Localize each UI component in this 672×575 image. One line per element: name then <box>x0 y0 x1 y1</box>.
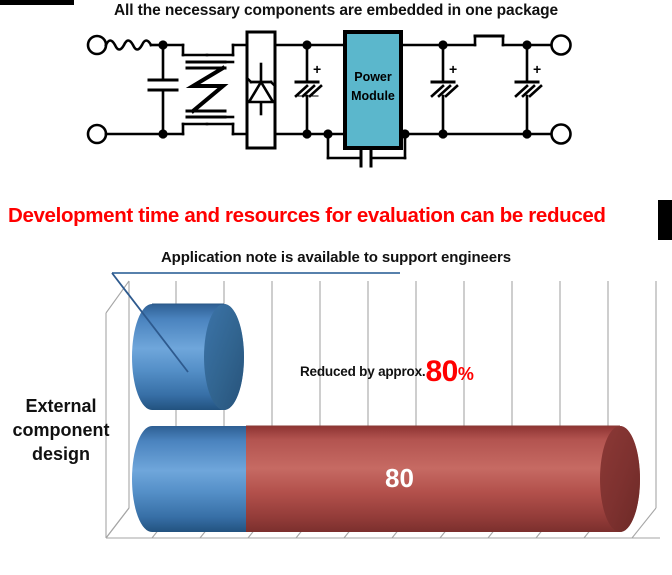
reduction-annotation-prefix: Reduced by approx. <box>300 364 425 379</box>
category-axis-label: External component design <box>2 395 120 466</box>
reduction-annotation: Reduced by approx.80% <box>300 355 474 389</box>
reduction-annotation-unit: % <box>458 364 474 384</box>
sub-caption: Application note is available to support… <box>0 249 672 266</box>
polarity-plus-3: + <box>533 61 541 77</box>
polarity-plus-2: + <box>449 61 457 77</box>
top-caption: All the necessary components are embedde… <box>0 2 672 20</box>
headline-text: Development time and resources for evalu… <box>8 204 656 228</box>
output-terminal-bottom-icon <box>552 125 571 144</box>
input-terminal-top-icon <box>88 36 106 54</box>
electrolytic-capacitor-2-icon <box>432 86 457 96</box>
reduction-annotation-value: 80 <box>425 355 457 388</box>
output-terminal-top-icon <box>552 36 571 55</box>
bar-data-label: 80 <box>385 463 414 494</box>
electrolytic-capacitor-3-icon <box>516 86 541 96</box>
choke-winding-icon <box>193 68 223 111</box>
power-module-label-line2: Module <box>351 89 395 103</box>
polarity-plus-1: + <box>313 61 321 77</box>
circuit-diagram: + + + Power Module <box>75 24 595 179</box>
inductor-icon <box>106 41 151 50</box>
input-terminal-bottom-icon <box>88 125 106 143</box>
headline-endcap-bar <box>658 200 672 240</box>
power-module-label-line1: Power <box>354 70 392 84</box>
electrolytic-capacitor-1-icon <box>296 86 321 96</box>
